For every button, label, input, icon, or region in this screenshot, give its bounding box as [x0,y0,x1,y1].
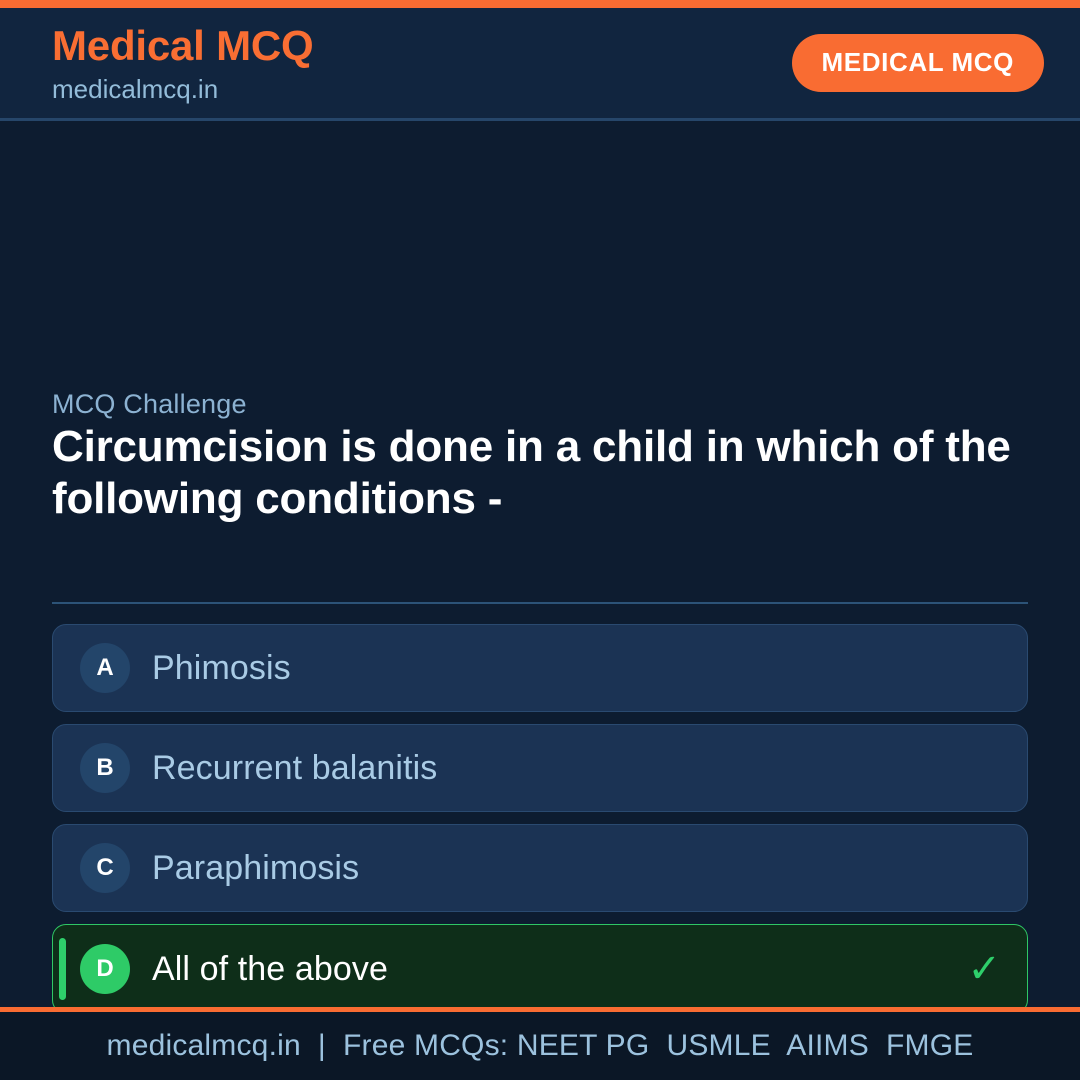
correct-accent-bar [59,938,66,1000]
option-row-b[interactable]: B Recurrent balanitis [52,724,1028,812]
question-text: Circumcision is done in a child in which… [52,421,1022,525]
brand-block: Medical MCQ medicalmcq.in [52,25,314,102]
header: Medical MCQ medicalmcq.in MEDICAL MCQ [0,8,1080,121]
question-divider [52,602,1028,604]
option-text-c: Paraphimosis [152,849,359,888]
footer: medicalmcq.in | Free MCQs: NEET PG USMLE… [0,1007,1080,1080]
option-letter-d: D [80,944,130,994]
option-row-a[interactable]: A Phimosis [52,624,1028,712]
option-letter-b: B [80,743,130,793]
main-content: MCQ Challenge Circumcision is done in a … [0,121,1080,1007]
option-text-b: Recurrent balanitis [152,749,437,788]
option-letter-a: A [80,643,130,693]
mcq-card: Medical MCQ medicalmcq.in MEDICAL MCQ MC… [0,0,1080,1080]
brand-subtitle: medicalmcq.in [52,76,314,102]
option-text-a: Phimosis [152,649,291,688]
option-text-d: All of the above [152,950,388,989]
footer-text: medicalmcq.in | Free MCQs: NEET PG USMLE… [107,1029,974,1063]
check-icon: ✓ [967,949,1001,989]
top-accent-bar [0,0,1080,8]
options-list: A Phimosis B Recurrent balanitis C Parap… [52,624,1028,1026]
brand-badge: MEDICAL MCQ [792,34,1044,92]
option-row-d[interactable]: D All of the above ✓ [52,924,1028,1014]
option-letter-c: C [80,843,130,893]
kicker-label: MCQ Challenge [52,389,247,420]
brand-title: Medical MCQ [52,25,314,67]
option-row-c[interactable]: C Paraphimosis [52,824,1028,912]
